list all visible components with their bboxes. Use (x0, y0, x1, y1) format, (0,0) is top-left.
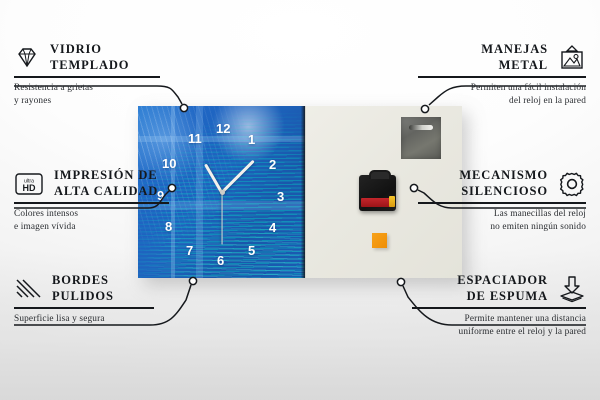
callout-desc-line1: Colores intensos (14, 208, 192, 221)
callout-header: MANEJAS METAL (396, 42, 586, 73)
callout-title: VIDRIO TEMPLADO (50, 42, 129, 73)
callout-title-line2: SILENCIOSO (396, 184, 548, 200)
callout-desc-line2: del reloj en la pared (396, 95, 586, 108)
callout-title: MANEJAS METAL (396, 42, 548, 73)
callout-mecanismo-silencioso[interactable]: MECANISMO SILENCIOSO Las manecillas del … (396, 168, 586, 234)
callout-desc-line1: Permiten una fácil instalación (396, 82, 586, 95)
clock-numeral-12: 12 (216, 122, 230, 135)
battery (361, 198, 391, 207)
clock-numeral-4: 4 (269, 221, 276, 234)
foam-spacer (372, 233, 387, 248)
arrow-down-stack-icon (558, 275, 586, 303)
callout-header: MECANISMO SILENCIOSO (396, 168, 586, 199)
connector-dot-bordes (189, 277, 196, 284)
callout-title-line1: MECANISMO (396, 168, 548, 184)
callout-rule (14, 307, 154, 309)
clock-numeral-6: 6 (217, 254, 224, 267)
clock-mechanism-box (359, 175, 396, 211)
framed-picture-icon (558, 45, 586, 71)
callout-rule (14, 76, 160, 78)
callout-title-line2: DE ESPUMA (390, 289, 548, 305)
callout-rule (412, 307, 586, 309)
callout-impresion-alta-calidad[interactable]: ultra HD IMPRESIÓN DE ALTA CALIDAD Color… (14, 168, 192, 234)
callout-title-line2: ALTA CALIDAD (54, 184, 158, 200)
callout-header: BORDES PULIDOS (14, 273, 184, 304)
callout-rule (418, 76, 586, 78)
callout-desc-line2: uniforme entre el reloj y la pared (390, 326, 586, 339)
callout-title-line1: BORDES (52, 273, 114, 289)
mechanism-handle (369, 170, 391, 179)
callout-desc-line1: Permite mantener una distancia (390, 313, 586, 326)
callout-desc-line1: Las manecillas del reloj (396, 208, 586, 221)
infographic-stage: 12 1 2 3 4 5 6 7 8 9 10 11 (0, 0, 600, 400)
callout-title-line1: MANEJAS (396, 42, 548, 58)
clock-center-pin (220, 190, 225, 195)
callout-title-line2: METAL (396, 58, 548, 74)
diamond-icon (14, 46, 40, 70)
gear-icon (558, 170, 586, 198)
callout-desc-line2: e imagen vívida (14, 221, 192, 234)
callout-header: VIDRIO TEMPLADO (14, 42, 184, 73)
callout-title: ESPACIADOR DE ESPUMA (390, 273, 548, 304)
callout-vidrio-templado[interactable]: VIDRIO TEMPLADO Resistencia a grietas y … (14, 42, 184, 108)
callout-title-line1: VIDRIO (50, 42, 129, 58)
callout-desc-line1: Superficie lisa y segura (14, 313, 184, 326)
callout-desc-line2: no emiten ningún sonido (396, 221, 586, 234)
ultra-hd-icon: ultra HD (14, 171, 44, 197)
diagonal-lines-icon (14, 277, 42, 301)
clock-second-hand (221, 193, 222, 245)
callout-header: ESPACIADOR DE ESPUMA (390, 273, 586, 304)
callout-title: IMPRESIÓN DE ALTA CALIDAD (54, 168, 158, 199)
callout-title-line1: ESPACIADOR (390, 273, 548, 289)
clock-numeral-11: 11 (188, 132, 202, 145)
callout-title-line1: IMPRESIÓN DE (54, 168, 158, 184)
callout-title: BORDES PULIDOS (52, 273, 114, 304)
hanger-slot (409, 125, 434, 130)
clock-numeral-2: 2 (269, 158, 276, 171)
callout-desc-line1: Resistencia a grietas (14, 82, 184, 95)
callout-rule (418, 202, 586, 204)
callout-title-line2: TEMPLADO (50, 58, 129, 74)
metal-hanger-plate-icon (401, 117, 441, 159)
callout-rule (14, 202, 169, 204)
callout-title: MECANISMO SILENCIOSO (396, 168, 548, 199)
callout-title-line2: PULIDOS (52, 289, 114, 305)
callout-desc-line2: y rayones (14, 95, 184, 108)
callout-manejas-metal[interactable]: MANEJAS METAL Permiten una fácil instala… (396, 42, 586, 108)
callout-header: ultra HD IMPRESIÓN DE ALTA CALIDAD (14, 168, 192, 199)
clock-numeral-3: 3 (277, 190, 284, 203)
clock-numeral-1: 1 (248, 133, 255, 146)
ultra-hd-icon-bottom-label: HD (23, 183, 36, 193)
callout-bordes-pulidos[interactable]: BORDES PULIDOS Superficie lisa y segura (14, 273, 184, 326)
callout-espaciador-espuma[interactable]: ESPACIADOR DE ESPUMA Permite mantener un… (390, 273, 586, 339)
clock-numeral-7: 7 (186, 244, 193, 257)
clock-numeral-5: 5 (248, 244, 255, 257)
